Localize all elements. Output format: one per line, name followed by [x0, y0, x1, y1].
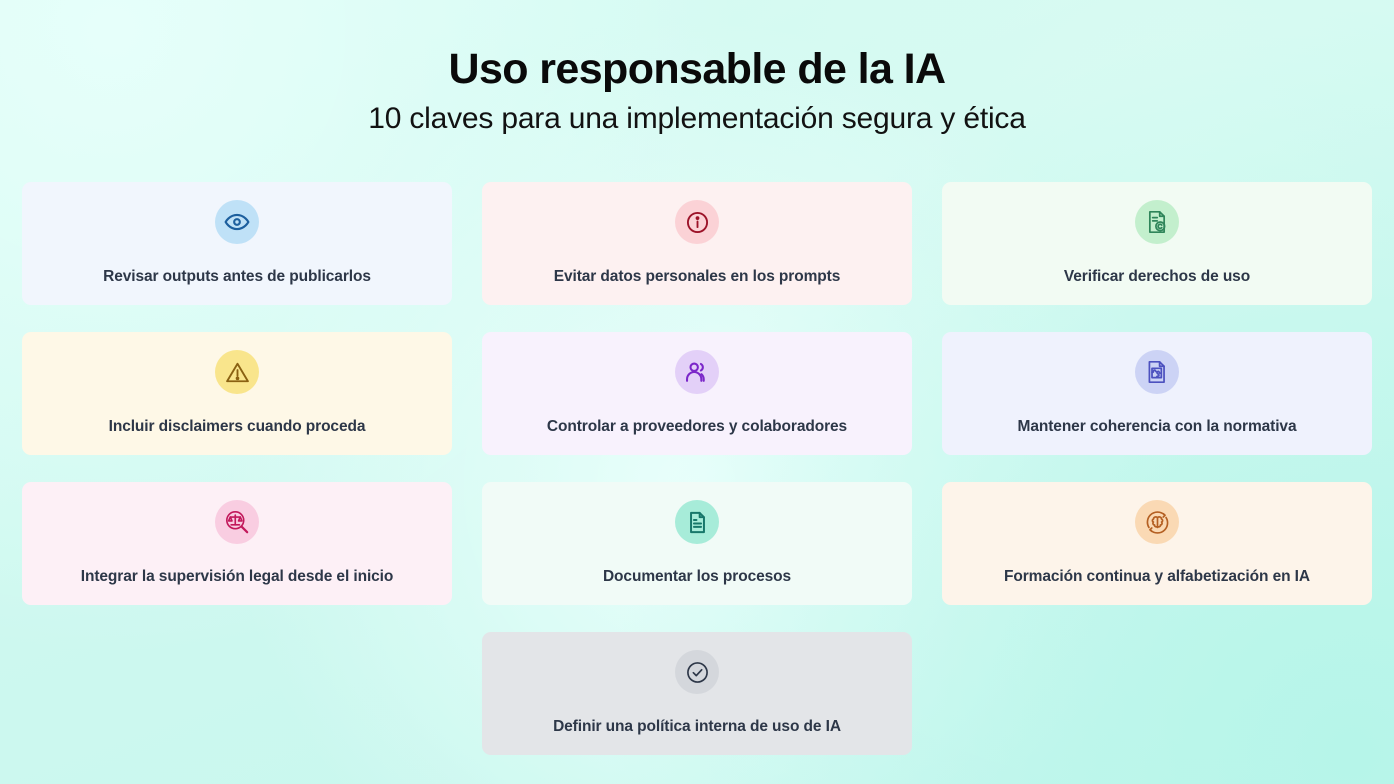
page-title: Uso responsable de la IA	[0, 46, 1394, 92]
card-label: Controlar a proveedores y colaboradores	[535, 417, 859, 436]
card-label: Incluir disclaimers cuando proceda	[97, 417, 378, 436]
eye-icon	[215, 200, 259, 244]
card-label: Revisar outputs antes de publicarlos	[91, 267, 383, 286]
check-circle-icon	[675, 650, 719, 694]
card-formacion-continua[interactable]: Formación continua y alfabetización en I…	[942, 482, 1372, 605]
card-label: Integrar la supervisión legal desde el i…	[69, 567, 406, 586]
card-label: Documentar los procesos	[591, 567, 803, 586]
card-supervision-legal[interactable]: Integrar la supervisión legal desde el i…	[22, 482, 452, 605]
cards-grid: Revisar outputs antes de publicarlos Evi…	[22, 182, 1372, 755]
info-circle-icon	[675, 200, 719, 244]
card-label: Definir una política interna de uso de I…	[541, 717, 853, 736]
card-mantener-coherencia[interactable]: Mantener coherencia con la normativa	[942, 332, 1372, 455]
card-documentar-procesos[interactable]: Documentar los procesos	[482, 482, 912, 605]
document-copyright-icon	[1135, 200, 1179, 244]
warning-triangle-icon	[215, 350, 259, 394]
card-incluir-disclaimers[interactable]: Incluir disclaimers cuando proceda	[22, 332, 452, 455]
card-politica-interna[interactable]: Definir una política interna de uso de I…	[482, 632, 912, 755]
card-revisar-outputs[interactable]: Revisar outputs antes de publicarlos	[22, 182, 452, 305]
card-label: Formación continua y alfabetización en I…	[992, 567, 1322, 586]
page-subtitle: 10 claves para una implementación segura…	[0, 102, 1394, 136]
users-icon	[675, 350, 719, 394]
file-text-icon	[675, 500, 719, 544]
card-label: Mantener coherencia con la normativa	[1006, 417, 1309, 436]
brain-refresh-icon	[1135, 500, 1179, 544]
card-evitar-datos-personales[interactable]: Evitar datos personales en los prompts	[482, 182, 912, 305]
header-section: Uso responsable de la IA 10 claves para …	[0, 0, 1394, 136]
card-verificar-derechos[interactable]: Verificar derechos de uso	[942, 182, 1372, 305]
card-controlar-proveedores[interactable]: Controlar a proveedores y colaboradores	[482, 332, 912, 455]
card-label: Verificar derechos de uso	[1052, 267, 1262, 286]
legal-magnifier-icon	[215, 500, 259, 544]
document-puzzle-icon	[1135, 350, 1179, 394]
card-label: Evitar datos personales en los prompts	[542, 267, 852, 286]
